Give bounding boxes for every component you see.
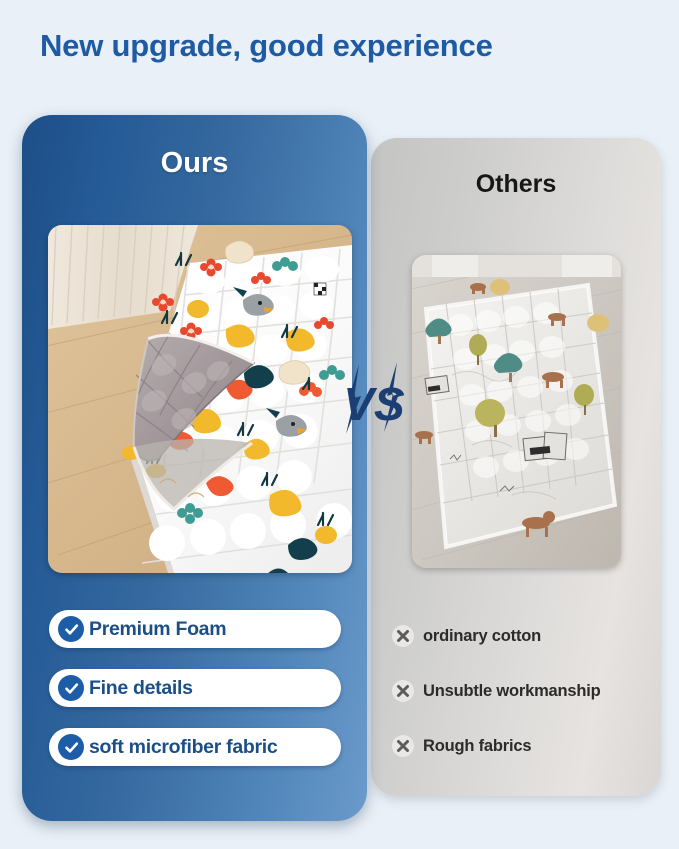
drawback-label: Unsubtle workmanship <box>423 682 601 701</box>
x-circle-icon <box>392 680 414 702</box>
feature-label: Fine details <box>89 677 193 700</box>
list-item: Rough fabrics <box>392 728 654 764</box>
drawback-label: Rough fabrics <box>423 737 531 756</box>
check-circle-icon <box>58 675 84 701</box>
ours-product-photo <box>48 225 352 573</box>
others-panel: Others <box>371 138 661 796</box>
x-circle-icon <box>392 735 414 757</box>
list-item: Fine details <box>49 669 341 707</box>
svg-text:VS: VS <box>343 378 405 430</box>
ours-heading: Ours <box>22 147 367 180</box>
list-item: Unsubtle workmanship <box>392 673 654 709</box>
drawback-label: ordinary cotton <box>423 627 541 646</box>
feature-label: Premium Foam <box>89 618 226 641</box>
ours-panel: Ours <box>22 115 367 821</box>
page-title: New upgrade, good experience <box>40 28 493 64</box>
ours-feature-list: Premium Foam Fine details soft microfibe… <box>49 610 341 787</box>
others-drawback-list: ordinary cotton Unsubtle workmanship Rou… <box>392 618 654 783</box>
vs-badge: VS <box>337 358 411 450</box>
list-item: Premium Foam <box>49 610 341 648</box>
others-heading: Others <box>371 170 661 199</box>
check-circle-icon <box>58 616 84 642</box>
x-circle-icon <box>392 625 414 647</box>
check-circle-icon <box>58 734 84 760</box>
feature-label: soft microfiber fabric <box>89 736 277 759</box>
list-item: ordinary cotton <box>392 618 654 654</box>
list-item: soft microfiber fabric <box>49 728 341 766</box>
others-product-photo <box>412 255 621 568</box>
